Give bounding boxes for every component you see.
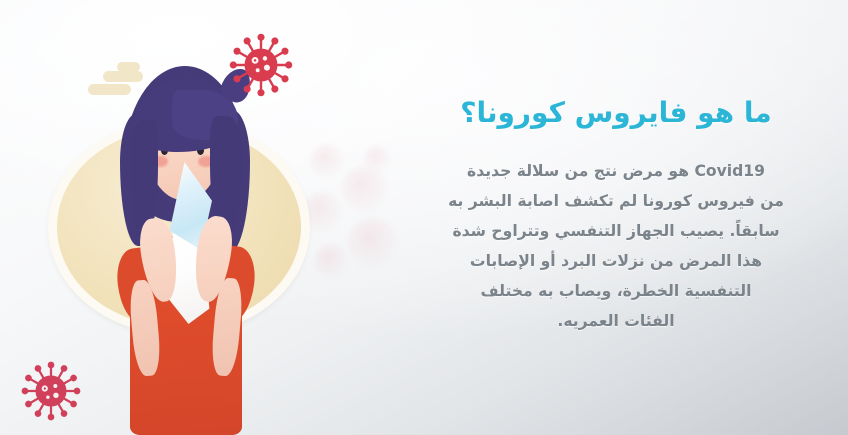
infographic-slide: ما هو فايروس كورونا؟ Covid19 هو مرض نتج …: [0, 0, 848, 435]
body-line-2: من فيروس كورونا لم تكشف اصابة البشر به: [408, 186, 824, 216]
coronavirus-icon-top-right: [228, 32, 294, 98]
body-paragraph: Covid19 هو مرض نتج من سلالة جديدة من فير…: [408, 156, 824, 336]
coronavirus-icon-bottom-left: [20, 360, 82, 422]
text-column: ما هو فايروس كورونا؟ Covid19 هو مرض نتج …: [408, 96, 824, 336]
body-line-4: هذا المرض من نزلات البرد أو الإصابات: [408, 246, 824, 276]
body-line-6: الفئات العمريه.: [408, 306, 824, 336]
girl-illustration: [110, 66, 260, 435]
body-line-1: Covid19 هو مرض نتج من سلالة جديدة: [408, 156, 824, 186]
page-title: ما هو فايروس كورونا؟: [408, 96, 824, 130]
coronavirus-icon-faint-cluster: [296, 140, 416, 290]
body-line-5: التنفسية الخطرة، ويصاب به مختلف: [408, 276, 824, 306]
body-line-3: سابقاً. يصيب الجهاز التنفسي وتتراوح شدة: [408, 216, 824, 246]
